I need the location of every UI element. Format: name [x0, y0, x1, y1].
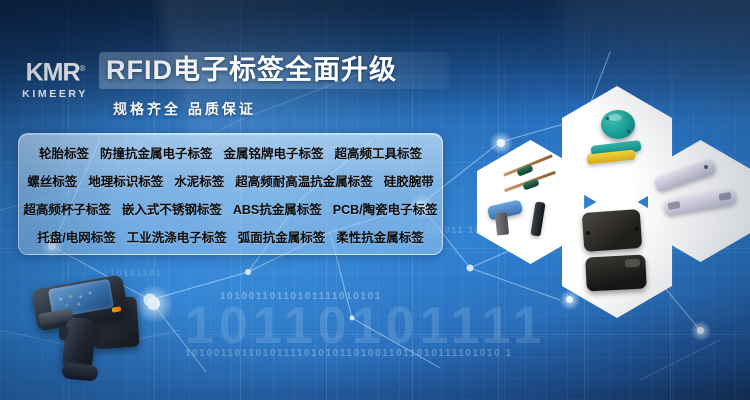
vignette-overlay — [0, 0, 750, 400]
rfid-promo-banner: 10110101111 10100110110101111010101 1010… — [0, 0, 750, 400]
